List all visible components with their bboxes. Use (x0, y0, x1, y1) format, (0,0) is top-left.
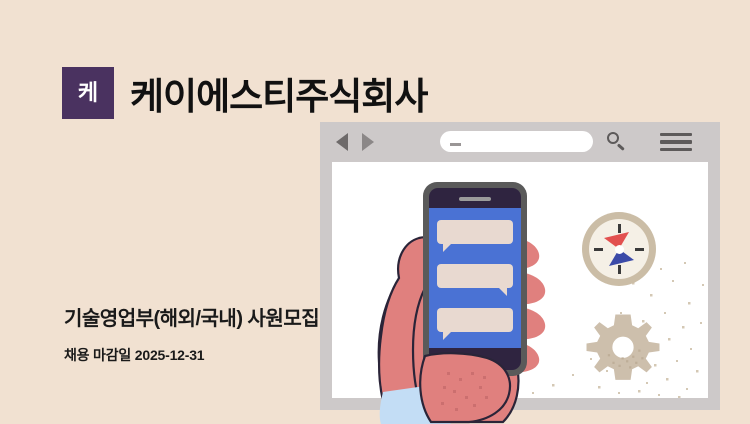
hand-front-fingers (420, 353, 510, 422)
gear-icon (585, 310, 661, 386)
gear-hole (612, 337, 633, 358)
recruitment-deadline: 채용 마감일 2025-12-31 (64, 345, 319, 365)
magnifier-icon[interactable] (607, 132, 626, 151)
hamburger-icon[interactable] (660, 133, 692, 151)
phone-speaker (459, 197, 491, 201)
address-bar-input[interactable] (440, 131, 593, 152)
hamburger-bar-1 (660, 133, 692, 136)
recruitment-title: 기술영업부(해외/국내) 사원모집 (64, 302, 319, 331)
brand-header: 케 케이에스티주식회사 (62, 66, 427, 120)
brand-logo-badge: 케 (62, 67, 114, 119)
company-name: 케이에스티주식회사 (130, 66, 427, 120)
magnifier-ring (607, 132, 619, 144)
compass-hub (615, 245, 624, 254)
hamburger-bar-2 (660, 140, 692, 143)
magnifier-handle (617, 143, 625, 150)
compass-icon (582, 212, 656, 286)
hamburger-bar-3 (660, 148, 692, 151)
browser-toolbar (320, 122, 720, 162)
hand-holding-phone-illustration (355, 180, 575, 424)
triangle-left-icon[interactable] (336, 133, 348, 151)
smartphone (423, 182, 527, 376)
browser-nav-arrows (336, 133, 374, 151)
brand-badge-char: 케 (78, 82, 98, 104)
text-caret (450, 143, 461, 146)
triangle-right-icon[interactable] (362, 133, 374, 151)
recruitment-info: 기술영업부(해외/국내) 사원모집 채용 마감일 2025-12-31 (64, 302, 319, 365)
poster-canvas: 케 케이에스티주식회사 기술영업부(해외/국내) 사원모집 채용 마감일 202… (0, 0, 750, 424)
